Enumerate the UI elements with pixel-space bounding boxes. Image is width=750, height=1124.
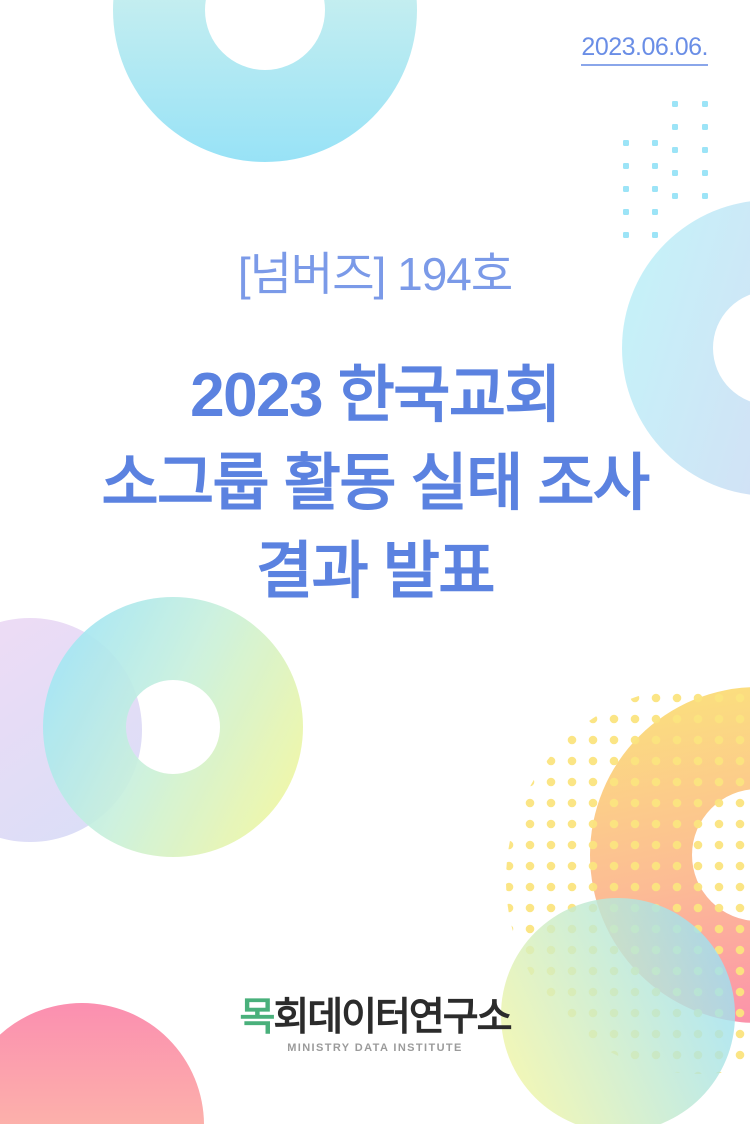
logo-english-name: MINISTRY DATA INSTITUTE <box>0 1042 750 1054</box>
logo-korean-rest: 회데이터연구소 <box>273 996 510 1039</box>
poster-cover: 2023.06.06. [넘버즈] 194호 2023 한국교회 소그룹 활동 … <box>0 0 750 1124</box>
content-layer: 2023.06.06. [넘버즈] 194호 2023 한국교회 소그룹 활동 … <box>0 0 750 1124</box>
logo-korean-name: 목회데이터연구소 <box>0 998 750 1039</box>
page-title-line-2: 소그룹 활동 실태 조사 <box>0 440 750 528</box>
organization-logo: 목회데이터연구소 MINISTRY DATA INSTITUTE <box>0 998 750 1054</box>
page-title-line-1: 2023 한국교회 <box>0 352 750 440</box>
publication-date-text: 2023.06.06. <box>581 34 708 66</box>
logo-korean-accent-char: 목 <box>239 996 273 1039</box>
page-title: 2023 한국교회 소그룹 활동 실태 조사 결과 발표 <box>0 352 750 616</box>
issue-number: [넘버즈] 194호 <box>0 248 750 301</box>
page-title-line-3: 결과 발표 <box>0 528 750 616</box>
publication-date: 2023.06.06. <box>581 34 708 66</box>
